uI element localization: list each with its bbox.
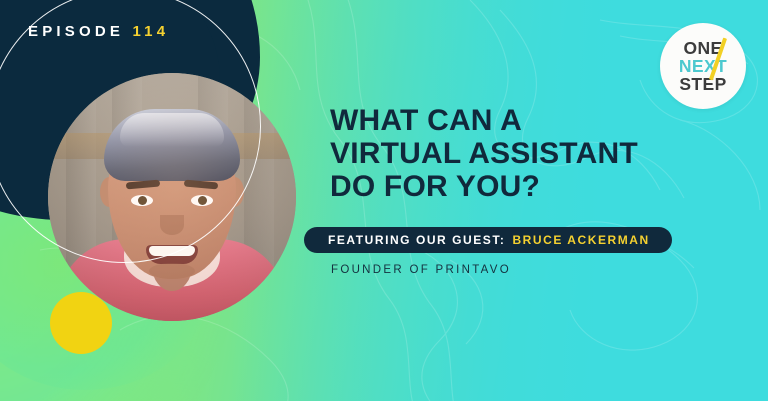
logo-line-next: NEXT (679, 57, 727, 75)
episode-number: 114 (132, 23, 169, 40)
logo-line-step: STEP (679, 75, 726, 93)
logo-wordmark: ONE NEXT STEP (660, 23, 746, 109)
guest-portrait-image (48, 73, 296, 321)
episode-word: EPISODE (28, 23, 124, 40)
episode-title: WHAT CAN A VIRTUAL ASSISTANT DO FOR YOU? (330, 104, 730, 203)
featuring-guest-badge: FEATURING OUR GUEST: BRUCE ACKERMAN (304, 227, 672, 253)
featuring-prefix-label: FEATURING OUR GUEST: (328, 233, 505, 247)
episode-cover-graphic: EPISODE 114 (0, 0, 768, 401)
one-next-step-logo: ONE NEXT STEP (660, 23, 746, 109)
episode-label: EPISODE 114 (28, 24, 169, 39)
guest-name-label: BRUCE ACKERMAN (512, 233, 649, 247)
episode-title-line-2: VIRTUAL ASSISTANT (330, 137, 730, 170)
episode-title-line-3: DO FOR YOU? (330, 170, 730, 203)
yellow-circle-accent (50, 292, 112, 354)
guest-role-label: FOUNDER OF PRINTAVO (331, 264, 511, 276)
guest-portrait (48, 73, 296, 321)
portrait-color-overlay (48, 73, 296, 321)
